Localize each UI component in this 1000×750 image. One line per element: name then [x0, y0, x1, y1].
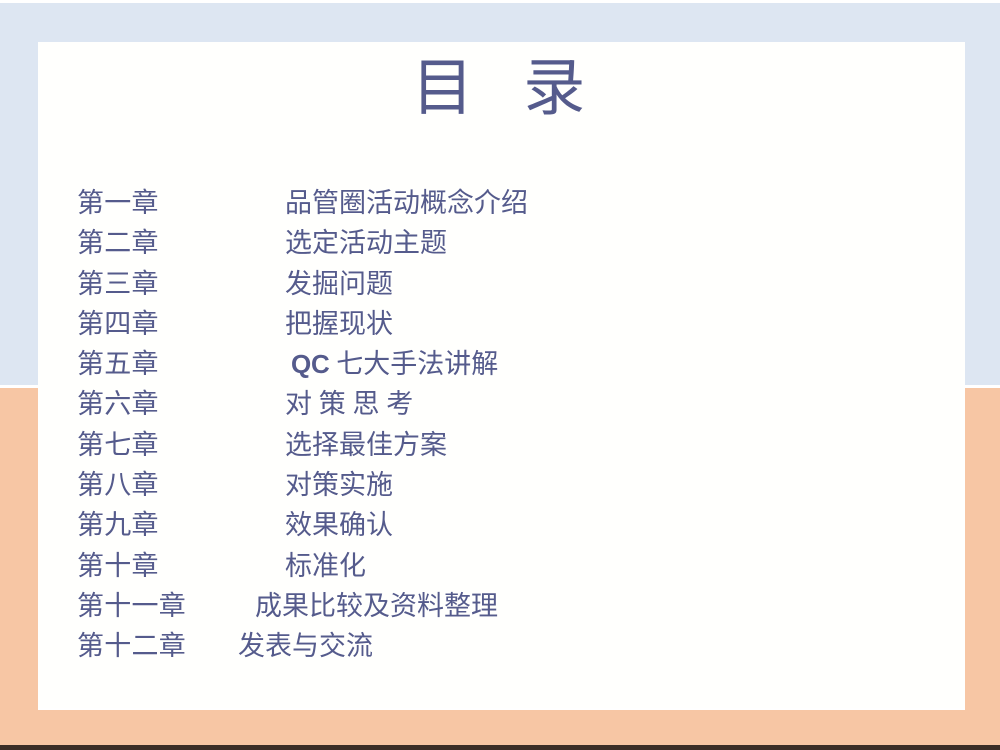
toc-entry-title: 效果确认: [285, 505, 393, 545]
toc-row[interactable]: 第十一章成果比较及资料整理: [38, 586, 965, 626]
decorative-border-right-peach: [965, 388, 1000, 710]
toc-row[interactable]: 第四章把握现状: [38, 304, 965, 344]
toc-row[interactable]: 第一章品管圈活动概念介绍: [38, 183, 965, 223]
decorative-border-bottom-rule: [0, 745, 1000, 750]
toc-title-text: 七大手法讲解: [336, 349, 498, 379]
toc-entry-title: 选择最佳方案: [285, 425, 447, 465]
table-of-contents-list: 第一章品管圈活动概念介绍第二章选定活动主题第三章发掘问题第四章把握现状第五章QC…: [38, 183, 965, 667]
decorative-border-right-blue: [965, 3, 1000, 385]
toc-entry-title: 品管圈活动概念介绍: [285, 183, 528, 223]
decorative-border-left-peach: [0, 388, 38, 710]
toc-row[interactable]: 第六章对 策 思 考: [38, 384, 965, 424]
toc-row[interactable]: 第十章标准化: [38, 546, 965, 586]
toc-row[interactable]: 第三章发掘问题: [38, 264, 965, 304]
toc-row[interactable]: 第九章效果确认: [38, 505, 965, 545]
toc-chapter-label: 第八章: [77, 465, 159, 505]
toc-row[interactable]: 第五章QC 七大手法讲解: [38, 344, 965, 384]
slide-canvas: 目 录 第一章品管圈活动概念介绍第二章选定活动主题第三章发掘问题第四章把握现状第…: [0, 0, 1000, 750]
toc-chapter-label: 第六章: [77, 384, 159, 424]
toc-row[interactable]: 第二章选定活动主题: [38, 223, 965, 263]
toc-entry-title: 标准化: [285, 546, 366, 586]
toc-chapter-label: 第九章: [77, 505, 159, 545]
toc-entry-title: 选定活动主题: [285, 223, 447, 263]
slide-content-area: 目 录 第一章品管圈活动概念介绍第二章选定活动主题第三章发掘问题第四章把握现状第…: [38, 42, 965, 708]
toc-chapter-label: 第一章: [77, 183, 159, 223]
toc-entry-title: 对 策 思 考: [285, 384, 413, 424]
toc-row[interactable]: 第十二章发表与交流: [38, 626, 965, 666]
toc-row[interactable]: 第七章选择最佳方案: [38, 425, 965, 465]
toc-row[interactable]: 第八章对策实施: [38, 465, 965, 505]
toc-title-prefix: QC: [291, 349, 329, 379]
toc-chapter-label: 第十二章: [77, 626, 186, 666]
toc-chapter-label: 第七章: [77, 425, 159, 465]
toc-entry-title: 发表与交流: [238, 626, 373, 666]
decorative-border-top: [0, 3, 1000, 42]
toc-entry-title: 把握现状: [285, 304, 393, 344]
toc-entry-title: 成果比较及资料整理: [255, 586, 498, 626]
toc-chapter-label: 第三章: [77, 264, 159, 304]
toc-chapter-label: 第十一章: [77, 586, 186, 626]
toc-chapter-label: 第二章: [77, 223, 159, 263]
toc-entry-title: 对策实施: [285, 465, 393, 505]
toc-chapter-label: 第五章: [77, 344, 159, 384]
toc-chapter-label: 第十章: [77, 546, 159, 586]
decorative-border-bottom: [0, 710, 1000, 745]
toc-entry-title: 发掘问题: [285, 264, 393, 304]
decorative-border-left-blue: [0, 3, 38, 385]
toc-chapter-label: 第四章: [77, 304, 159, 344]
page-title: 目 录: [38, 54, 965, 124]
toc-entry-title: QC 七大手法讲解: [291, 344, 498, 384]
